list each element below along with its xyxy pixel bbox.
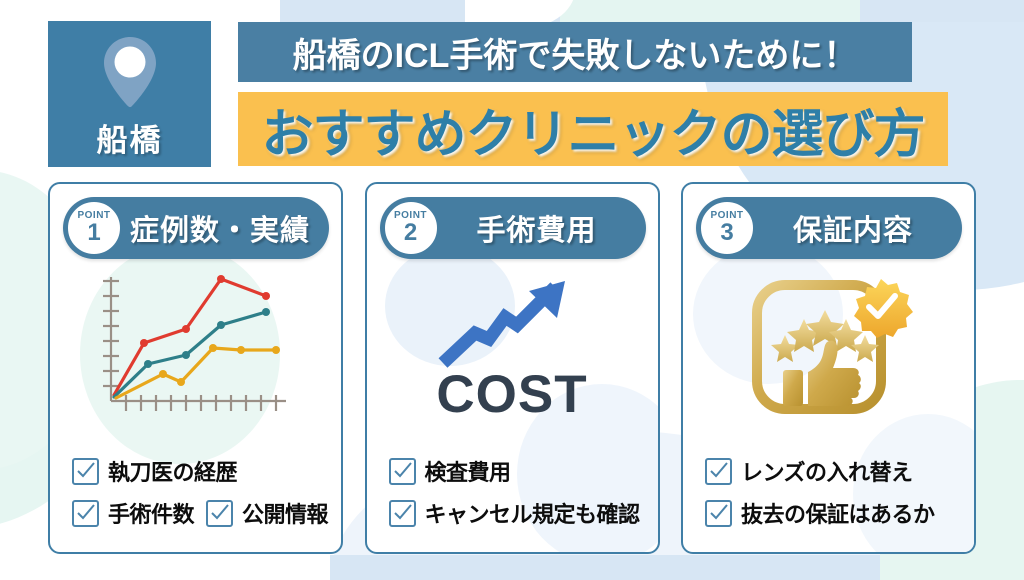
- checkbox-icon[interactable]: [389, 458, 416, 485]
- card-3-title: 保証内容: [756, 207, 962, 249]
- point-card-3: POINT 3 保証内容: [681, 182, 976, 554]
- card-3-checklist: レンズの入れ替え 抜去の保証はあるか: [683, 450, 974, 552]
- checkbox-icon[interactable]: [72, 500, 99, 527]
- poster-subtitle-banner: 船橋のICL手術で失敗しないために！: [238, 22, 912, 82]
- point-number-1: 1: [87, 220, 100, 245]
- checklist-label: 抜去の保証はあるか: [741, 497, 935, 529]
- card-2-header: POINT 2 手術費用: [380, 197, 646, 259]
- bg-band-bottom: [330, 555, 890, 580]
- region-label: 船橋: [97, 115, 163, 160]
- checklist-label: 公開情報: [242, 497, 328, 529]
- point-badge-2: POINT 2: [382, 199, 440, 257]
- location-pin-icon: [99, 35, 161, 109]
- checklist-row: レンズの入れ替え: [683, 450, 974, 492]
- checkbox-icon[interactable]: [705, 458, 732, 485]
- point-badge-3: POINT 3: [698, 199, 756, 257]
- checklist-label: キャンセル規定も確認: [425, 497, 640, 529]
- cost-label: COST: [436, 368, 587, 421]
- card-3-illustration: [683, 259, 974, 439]
- checkbox-icon[interactable]: [705, 500, 732, 527]
- cost-arrow-icon: [437, 277, 587, 372]
- line-chart-icon: [81, 269, 311, 429]
- poster-canvas: 船橋 船橋のICL手術で失敗しないために！ おすすめクリニックの選び方 POIN…: [0, 0, 1024, 580]
- poster-subtitle-text: 船橋のICL手術で失敗しないために！: [293, 28, 858, 77]
- card-2-illustration: COST: [367, 259, 658, 439]
- poster-title-text: おすすめクリニックの選び方: [261, 92, 924, 167]
- card-1-title: 症例数・実績: [123, 207, 329, 249]
- card-1-illustration: [50, 259, 341, 439]
- point-card-1: POINT 1 症例数・実績: [48, 182, 343, 554]
- card-2-title: 手術費用: [440, 207, 646, 249]
- point-card-2: POINT 2 手術費用 COST: [365, 182, 660, 554]
- point-badge-1: POINT 1: [65, 199, 123, 257]
- card-2-checklist: 検査費用 キャンセル規定も確認: [367, 450, 658, 552]
- checklist-row: 抜去の保証はあるか: [683, 492, 974, 534]
- checklist-row: 手術件数 公開情報: [50, 492, 341, 534]
- poster-title-banner: おすすめクリニックの選び方: [238, 92, 948, 166]
- bg-band-top: [280, 0, 1024, 22]
- checklist-row: 検査費用: [367, 450, 658, 492]
- card-1-header: POINT 1 症例数・実績: [63, 197, 329, 259]
- region-badge: 船橋: [48, 21, 211, 167]
- card-3-header: POINT 3 保証内容: [696, 197, 962, 259]
- checkbox-icon[interactable]: [72, 458, 99, 485]
- checklist-row: キャンセル規定も確認: [367, 492, 658, 534]
- point-card-list: POINT 1 症例数・実績: [48, 182, 976, 554]
- point-number-2: 2: [404, 220, 417, 245]
- quality-badge-icon: [741, 267, 916, 432]
- card-1-checklist: 執刀医の経歴 手術件数 公開情報: [50, 450, 341, 552]
- checkbox-icon[interactable]: [206, 500, 233, 527]
- checklist-label: 手術件数: [108, 497, 194, 529]
- checklist-row: 執刀医の経歴: [50, 450, 341, 492]
- checkbox-icon[interactable]: [389, 500, 416, 527]
- checklist-label: 検査費用: [425, 455, 511, 487]
- checklist-label: レンズの入れ替え: [741, 455, 913, 487]
- checklist-label: 執刀医の経歴: [108, 455, 237, 487]
- point-number-3: 3: [720, 220, 733, 245]
